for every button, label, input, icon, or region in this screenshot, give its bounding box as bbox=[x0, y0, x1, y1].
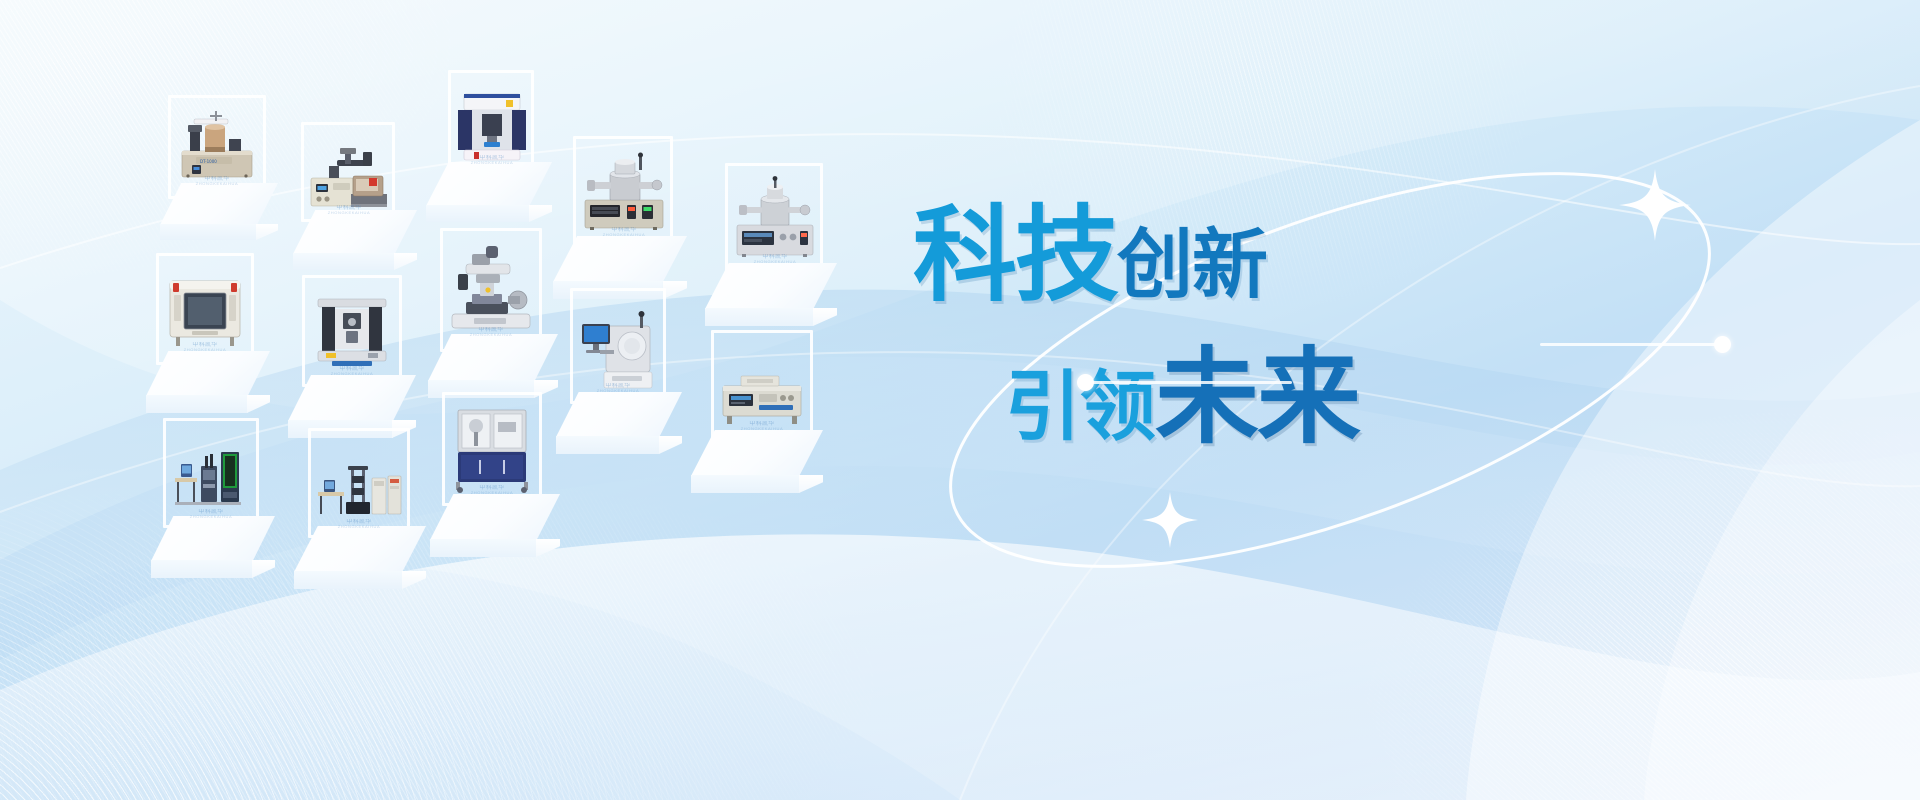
product-card-fatigue-testing-cabinet[interactable]: 中科凯华 ZHONGKEKAIHUA bbox=[422, 392, 608, 592]
headline-block: 科技创新 引领未来 bbox=[905, 160, 1465, 460]
connector-line-right bbox=[1540, 343, 1724, 346]
product-image: 中科凯华 ZHONGKEKAIHUA bbox=[169, 432, 253, 518]
product-image: 中科凯华 ZHONGKEKAIHUA bbox=[576, 298, 660, 392]
product-image: 中科凯华 ZHONGKEKAIHUA bbox=[731, 175, 819, 263]
product-image: 中科凯华 ZHONGKEKAIHUA bbox=[314, 448, 404, 528]
product-image: 中科凯华 ZHONGKEKAIHUA bbox=[579, 148, 669, 236]
product-image: 中科凯华 ZHONGKEKAIHUA bbox=[307, 138, 391, 214]
headline-line2-small: 引领 bbox=[1005, 362, 1155, 451]
product-image: 中科凯华 ZHONGKEKAIHUA bbox=[454, 84, 530, 164]
svg-text:DT-1000: DT-1000 bbox=[200, 159, 217, 164]
headline-line-1: 科技创新 bbox=[913, 170, 1267, 321]
product-image: 中科凯华 ZHONGKEKAIHUA bbox=[162, 267, 248, 351]
headline-line-2: 引领未来 bbox=[1005, 312, 1359, 463]
product-image: 中科凯华 ZHONGKEKAIHUA bbox=[448, 402, 536, 494]
product-pedestal bbox=[286, 526, 434, 612]
product-image: 中科凯华 ZHONGKEKAIHUA bbox=[717, 352, 807, 430]
dot-right bbox=[1714, 336, 1731, 353]
product-image: 中科凯华 ZHONGKEKAIHUA bbox=[446, 238, 536, 336]
sparkle-lower-left-icon bbox=[1142, 492, 1198, 548]
headline-line1-big: 科技 bbox=[913, 194, 1117, 316]
product-image: DT-1000 中科凯华 ZHONGK bbox=[174, 107, 260, 185]
sparkle-top-right-icon bbox=[1619, 169, 1691, 241]
promo-banner: DT-1000 中科凯华 ZHONGK bbox=[0, 0, 1920, 800]
product-pedestal bbox=[150, 183, 288, 263]
product-card-control-console-bench[interactable]: 中科凯华 ZHONGKEKAIHUA bbox=[683, 330, 869, 530]
product-pedestal bbox=[683, 430, 831, 516]
product-pedestal bbox=[143, 516, 283, 600]
product-pedestal bbox=[422, 494, 568, 580]
headline-line1-small: 创新 bbox=[1117, 220, 1267, 309]
product-image: 中科凯华 ZHONGKEKAIHUA bbox=[308, 287, 396, 375]
headline-line2-big: 未来 bbox=[1155, 336, 1359, 458]
